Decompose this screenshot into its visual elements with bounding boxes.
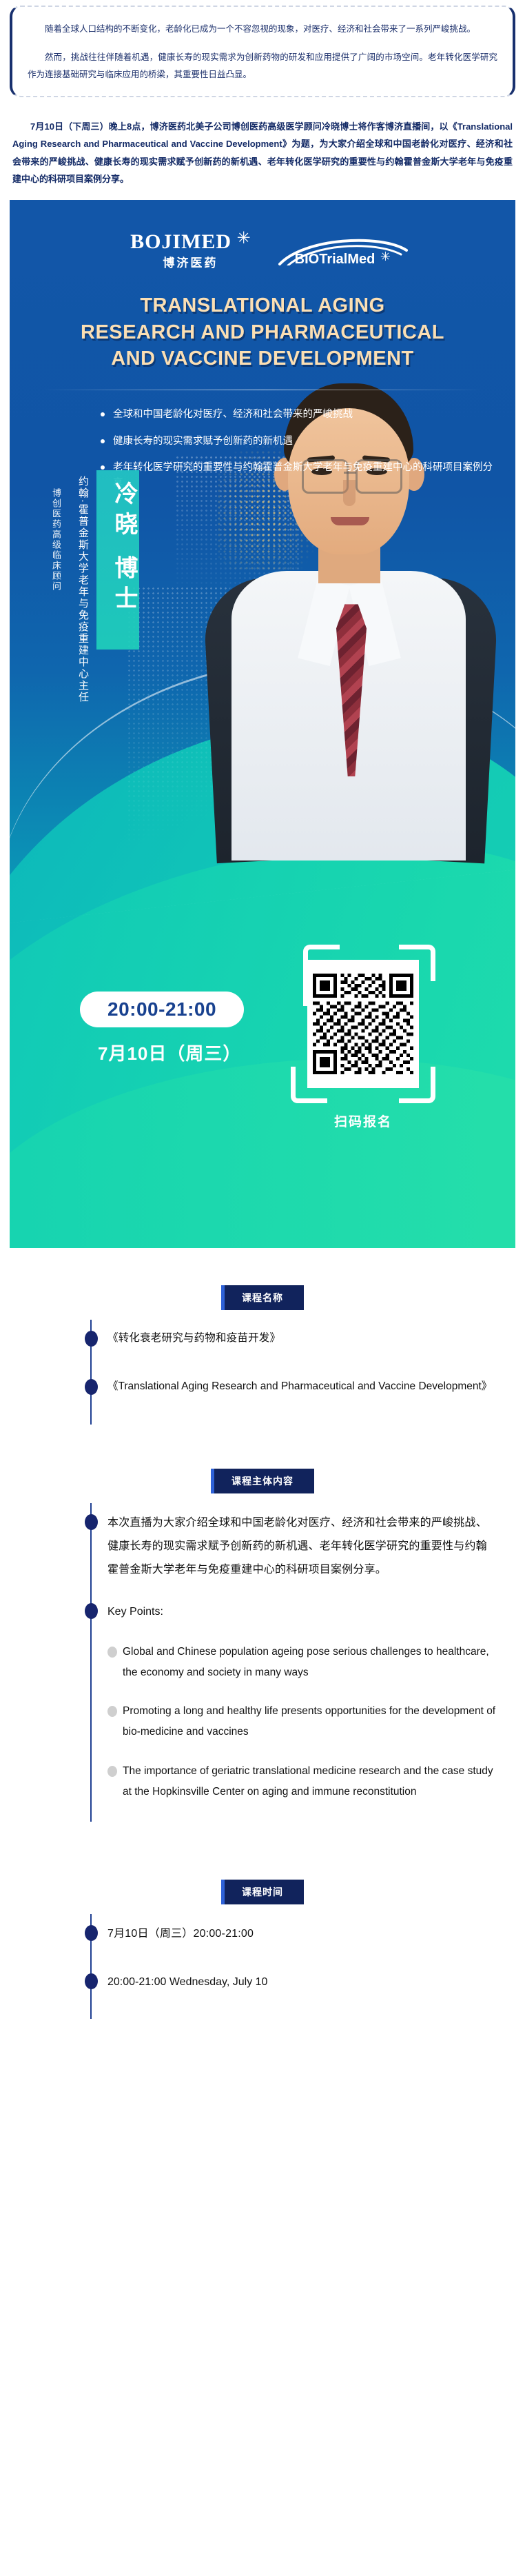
poster-divider <box>42 390 483 390</box>
course-name-item-cn: 《转化衰老研究与药物和疫苗开发》 <box>12 1328 513 1357</box>
key-points-item: Key Points: Global and Chinese populatio… <box>12 1600 513 1802</box>
poster-bullet-2: 健康长寿的现实需求赋予创新药的新机遇 <box>101 434 500 449</box>
bojimed-logo-cn: 博济医药 <box>130 257 251 269</box>
poster-title: TRANSLATIONAL AGING RESEARCH AND PHARMAC… <box>10 292 515 372</box>
bojimed-logo: BOJIMED ✳ 博济医药 <box>130 232 251 269</box>
speaker-organization: 约翰·霍普金斯大学老年与免疫重建中心主任 <box>76 476 90 703</box>
section-chip-course-content-wrap: 课程主体内容 <box>0 1469 525 1493</box>
poster-date: 7月10日（周三） <box>98 1040 241 1065</box>
biotrialmed-logo: BIOTrialMed ✳ <box>274 252 395 269</box>
speaker-name: 冷晓 博士 <box>107 481 141 616</box>
section-chip-course-time: 课程时间 <box>221 1880 304 1904</box>
article-page: 随着全球人口结构的不断变化，老龄化已成为一个不容忽视的现象，对医疗、经济和社会带… <box>0 0 525 2063</box>
course-time-timeline: 7月10日（周三）20:00-21:00 20:00-21:00 Wednesd… <box>12 1904 513 2026</box>
qr-code-block[interactable] <box>291 945 435 1103</box>
intro-paragraph-1: 随着全球人口结构的不断变化，老龄化已成为一个不容忽视的现象，对医疗、经济和社会带… <box>28 21 497 38</box>
timeline-dot-icon-4 <box>85 1603 98 1619</box>
qr-caption: 扫码报名 <box>292 1111 434 1130</box>
timeline-dot-icon <box>85 1331 98 1347</box>
section-chip-course-name: 课程名称 <box>221 1285 304 1310</box>
timeline-dot-icon-3 <box>85 1514 98 1530</box>
course-time-text-en: 20:00-21:00 Wednesday, July 10 <box>107 1971 496 1994</box>
course-name-text-en: 《Translational Aging Research and Pharma… <box>107 1376 496 1397</box>
poster-logo-row: BOJIMED ✳ 博济医药 BIOTrialMed ✳ <box>10 200 515 269</box>
qr-code-icon <box>313 965 413 1083</box>
arc-icon <box>277 234 408 265</box>
key-points-label: Key Points: <box>107 1600 496 1624</box>
poster-bullet-1: 全球和中国老龄化对医疗、经济和社会带来的严峻挑战 <box>101 407 500 422</box>
lead-paragraph: 7月10日（下周三）晚上8点，博济医药北美子公司博创医药高级医学顾问冷晓博士将作… <box>12 118 513 188</box>
course-content-summary-item: 本次直播为大家介绍全球和中国老龄化对医疗、经济和社会带来的严峻挑战、健康长寿的现… <box>12 1511 513 1581</box>
course-time-item-cn: 7月10日（周三）20:00-21:00 <box>12 1922 513 1951</box>
course-content-timeline: 本次直播为大家介绍全球和中国老龄化对医疗、经济和社会带来的严峻挑战、健康长寿的现… <box>12 1493 513 1829</box>
event-poster: BOJIMED ✳ 博济医药 BIOTrialMed ✳ TRANSLATION… <box>10 200 515 1248</box>
poster-time-pill: 20:00-21:00 <box>80 992 244 1027</box>
course-name-timeline: 《转化衰老研究与药物和疫苗开发》 《Translational Aging Re… <box>12 1310 513 1431</box>
key-points-list: Global and Chinese population ageing pos… <box>107 1642 496 1802</box>
section-chip-course-content: 课程主体内容 <box>211 1469 314 1493</box>
asterisk-icon: ✳ <box>237 232 251 245</box>
poster-title-line-3: AND VACCINE DEVELOPMENT <box>28 345 497 372</box>
bojimed-logo-text: BOJIMED <box>130 232 231 252</box>
section-chip-course-time-wrap: 课程时间 <box>0 1880 525 1904</box>
course-name-text-cn: 《转化衰老研究与药物和疫苗开发》 <box>107 1328 496 1349</box>
timeline-dot-icon-6 <box>85 1973 98 1989</box>
course-time-text-cn: 7月10日（周三）20:00-21:00 <box>107 1922 496 1946</box>
section-chip-course-name-wrap: 课程名称 <box>0 1285 525 1310</box>
poster-bullet-3: 老年转化医学研究的重要性与约翰霍普金斯大学老年与免疫重建中心的科研项目案例分享 <box>101 460 500 491</box>
key-point-3: The importance of geriatric translationa… <box>107 1761 496 1802</box>
qr-code-image <box>307 960 419 1088</box>
course-name-item-en: 《Translational Aging Research and Pharma… <box>12 1376 513 1405</box>
key-point-2: Promoting a long and healthy life presen… <box>107 1701 496 1742</box>
key-point-1: Global and Chinese population ageing pos… <box>107 1642 496 1683</box>
timeline-dot-icon-5 <box>85 1925 98 1941</box>
course-time-item-en: 20:00-21:00 Wednesday, July 10 <box>12 1971 513 2000</box>
speaker-role: 博创医药高级临床顾问 <box>50 488 63 592</box>
timeline-dot-icon-2 <box>85 1379 98 1395</box>
course-content-summary: 本次直播为大家介绍全球和中国老龄化对医疗、经济和社会带来的严峻挑战、健康长寿的现… <box>107 1511 496 1581</box>
poster-title-line-2: RESEARCH AND PHARMACEUTICAL <box>28 319 497 345</box>
poster-title-line-1: TRANSLATIONAL AGING <box>28 292 497 319</box>
intro-paragraph-2: 然而，挑战往往伴随着机遇，健康长寿的现实需求为创新药物的研发和应用提供了广阔的市… <box>28 49 497 83</box>
intro-card: 随着全球人口结构的不断变化，老龄化已成为一个不容忽视的现象，对医疗、经济和社会带… <box>10 6 515 97</box>
